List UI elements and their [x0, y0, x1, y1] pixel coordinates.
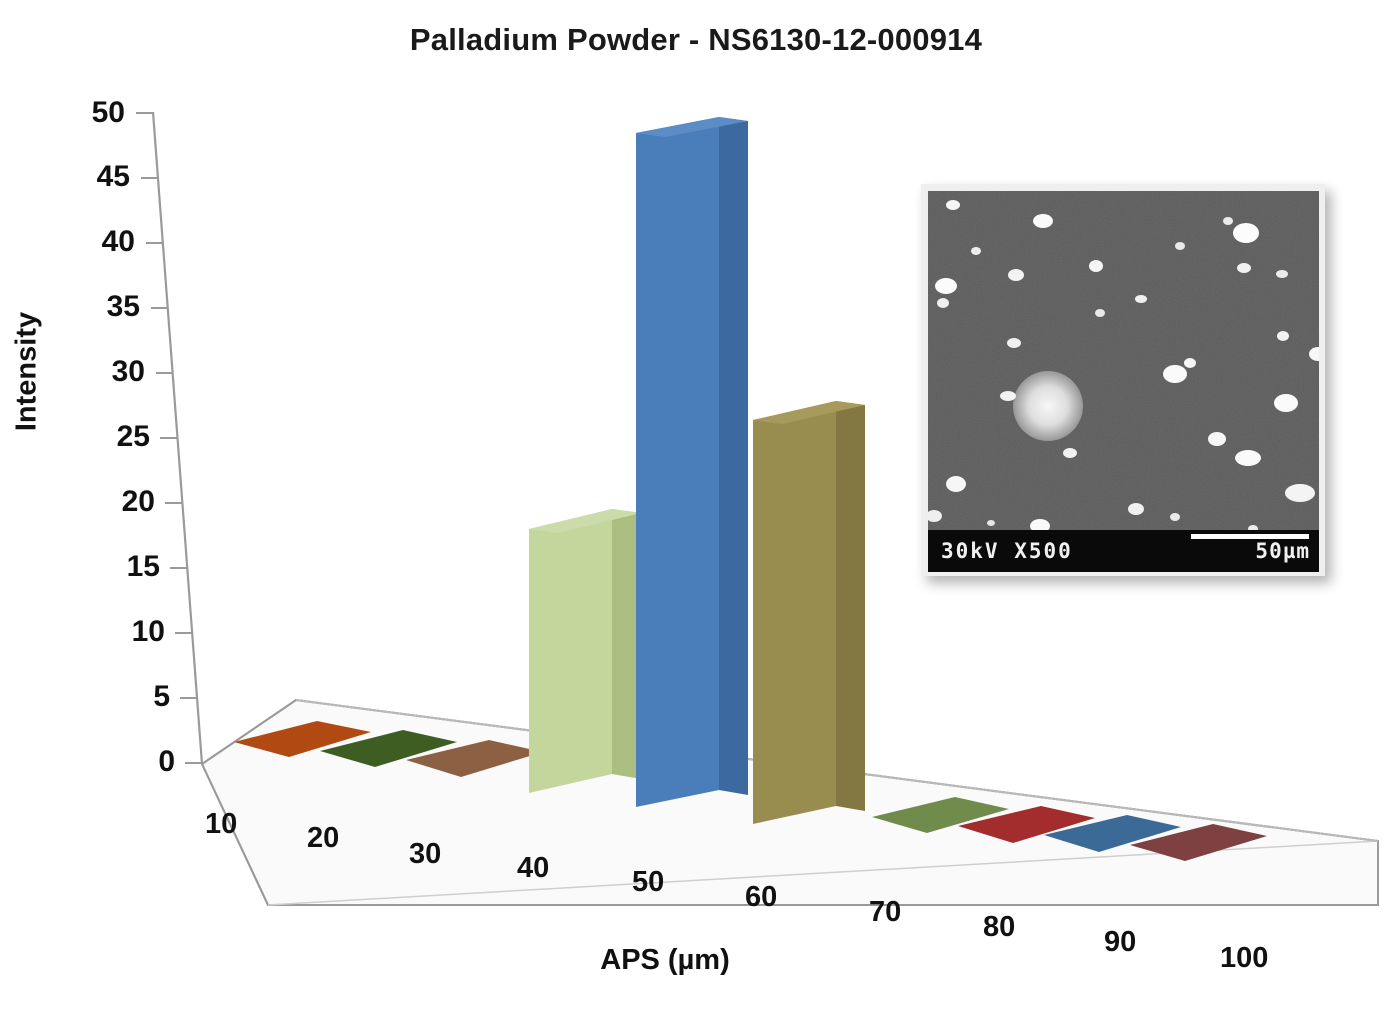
floor-tile-20 — [320, 730, 457, 767]
x-tick-label-100: 100 — [1220, 942, 1268, 975]
y-tick-label-0: 0 — [95, 745, 175, 779]
floor-tile-90 — [1044, 815, 1181, 852]
sem-scale-label: 50µm — [1255, 539, 1310, 563]
x-tick-label-20: 20 — [307, 822, 339, 855]
bar-40 — [529, 509, 641, 793]
y-tick-label-50: 50 — [45, 96, 125, 130]
floor-tile-80 — [958, 806, 1095, 843]
y-tick-mark-45 — [141, 177, 158, 179]
y-tick-label-10: 10 — [85, 615, 165, 649]
x-tick-label-90: 90 — [1104, 926, 1136, 959]
y-tick-mark-15 — [170, 567, 187, 569]
y-axis-title: Intensity — [11, 277, 44, 467]
y-tick-label-5: 5 — [90, 680, 170, 714]
x-tick-label-50: 50 — [632, 866, 664, 899]
sem-particles — [928, 191, 1319, 572]
x-axis-title: APS (µm) — [455, 944, 875, 977]
y-tick-label-30: 30 — [65, 355, 145, 389]
y-tick-mark-30 — [156, 372, 173, 374]
y-tick-mark-40 — [146, 242, 163, 244]
x-tick-label-70: 70 — [869, 896, 901, 929]
y-tick-mark-50 — [136, 112, 153, 114]
y-tick-mark-20 — [165, 502, 182, 504]
x-tick-label-40: 40 — [517, 852, 549, 885]
page-title: Palladium Powder - NS6130-12-000914 — [0, 22, 1392, 58]
bar-50 — [636, 117, 748, 807]
x-tick-label-30: 30 — [409, 838, 441, 871]
y-tick-mark-25 — [160, 437, 177, 439]
y-tick-label-20: 20 — [75, 485, 155, 519]
sem-voltage-magnification: 30kV X500 — [941, 539, 1073, 563]
x-tick-label-60: 60 — [745, 881, 777, 914]
y-tick-label-25: 25 — [70, 420, 150, 454]
floor-tile-100 — [1130, 824, 1267, 861]
chart-canvas: Palladium Powder - NS6130-12-000914 Inte… — [0, 0, 1392, 1016]
y-tick-label-40: 40 — [55, 225, 135, 259]
y-tick-mark-35 — [151, 307, 168, 309]
floor-tile-10 — [234, 721, 371, 757]
x-tick-label-80: 80 — [983, 911, 1015, 944]
y-tick-label-15: 15 — [80, 550, 160, 584]
y-tick-mark-0 — [185, 762, 202, 764]
sem-micrograph: 30kV X500 50µm — [928, 191, 1319, 572]
y-tick-label-45: 45 — [50, 160, 130, 194]
y-tick-label-35: 35 — [60, 290, 140, 324]
floor-tile-30 — [406, 740, 543, 777]
sem-inset-panel: 30kV X500 50µm — [921, 184, 1325, 576]
y-tick-mark-5 — [180, 697, 197, 699]
sem-caption-bar: 30kV X500 50µm — [928, 530, 1319, 572]
floor-tile-70 — [872, 797, 1009, 833]
bar-60 — [753, 401, 865, 824]
y-tick-mark-10 — [175, 632, 192, 634]
x-tick-label-10: 10 — [205, 808, 237, 841]
